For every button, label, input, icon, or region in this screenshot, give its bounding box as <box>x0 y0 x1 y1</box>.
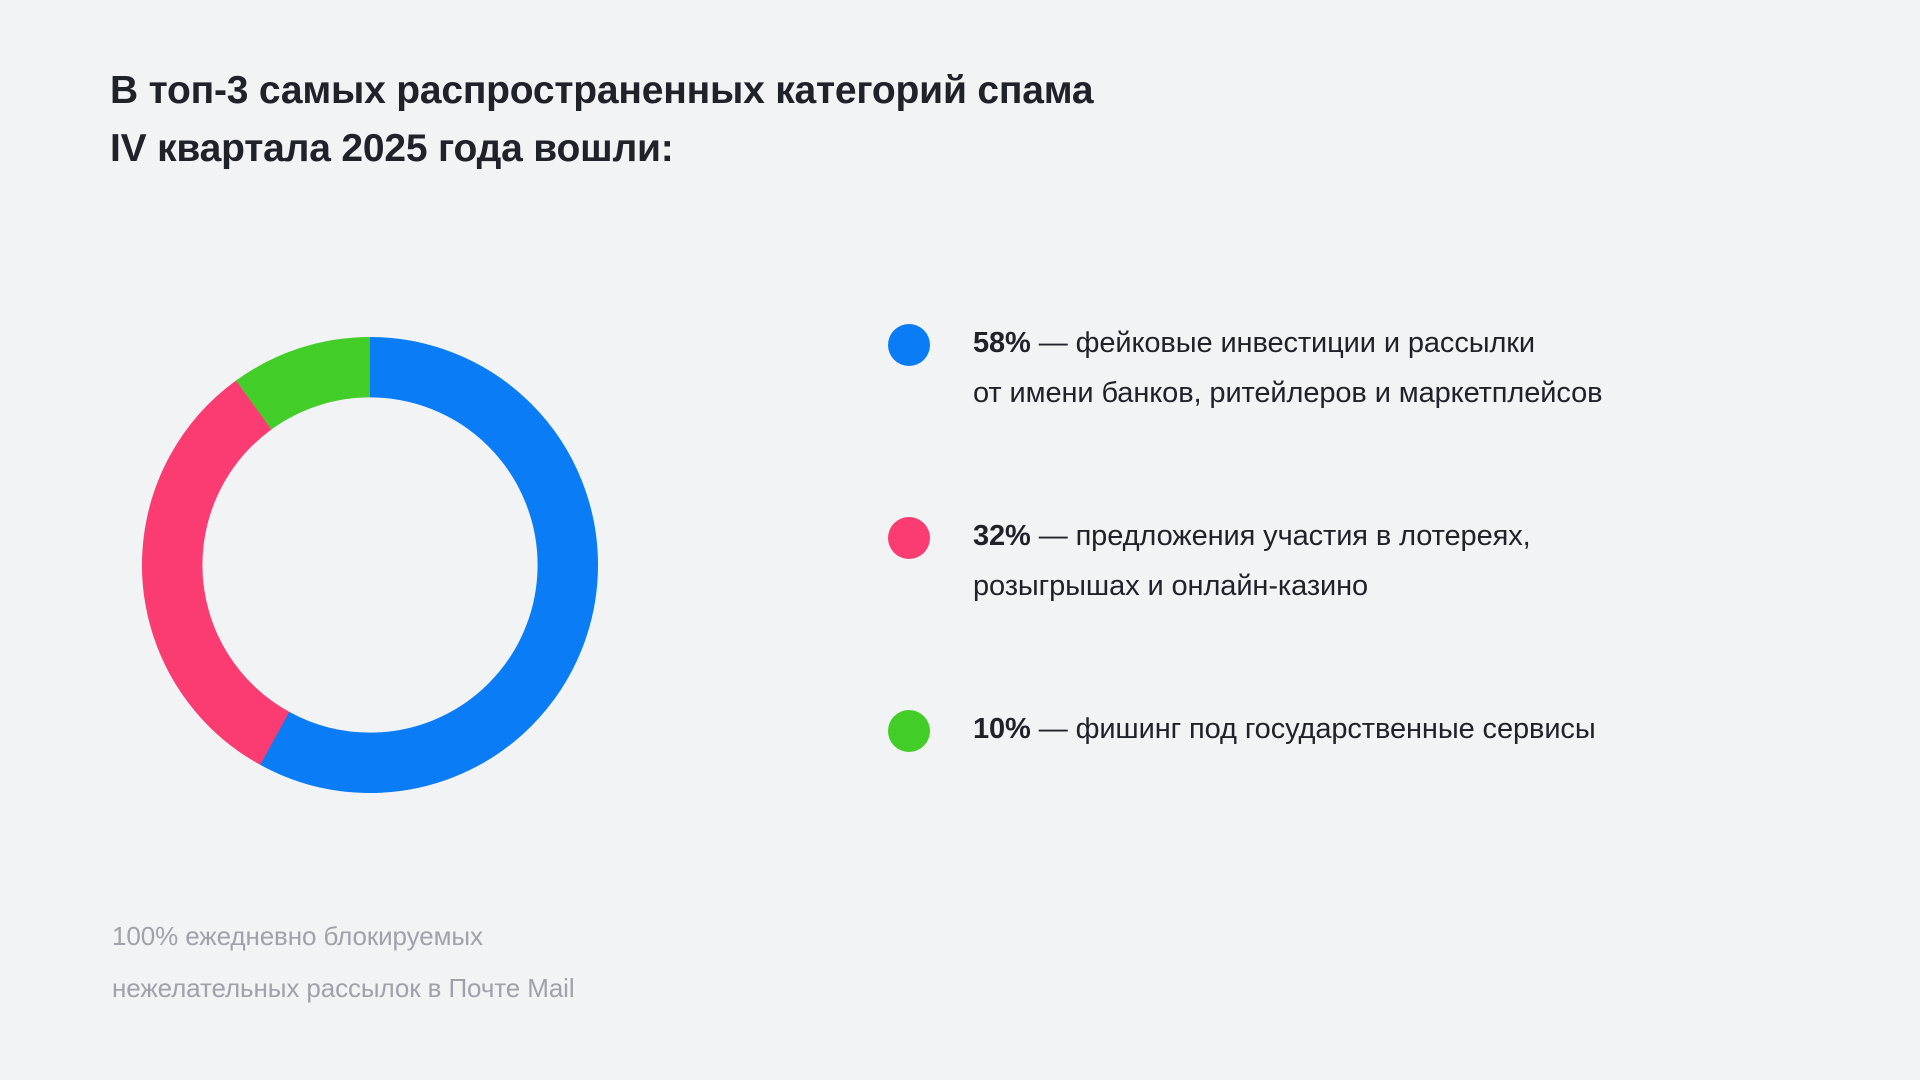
legend-description-line-1: фишинг под государственные сервисы <box>1076 713 1596 745</box>
legend-item-text: 10% — фишинг под государственные сервисы <box>973 704 1596 754</box>
legend-color-dot-icon <box>888 324 930 366</box>
title-line-2: IV квартала 2025 года вошли: <box>110 120 1410 178</box>
donut-chart <box>105 300 635 830</box>
legend-dash: — <box>1031 520 1076 552</box>
infographic-canvas: В топ-3 самых распространенных категорий… <box>0 0 1920 1080</box>
title-line-1: В топ-3 самых распространенных категорий… <box>110 62 1410 120</box>
legend-description-line-1: предложения участия в лотереях, <box>1076 520 1531 552</box>
legend-description-line-2: от имени банков, ритейлеров и маркетплей… <box>973 368 1602 418</box>
legend-description-line-1: фейковые инвестиции и рассылки <box>1076 327 1535 359</box>
legend-color-dot-icon <box>888 710 930 752</box>
legend-percent: 58% <box>973 327 1031 359</box>
legend-description-line-2: розыгрышах и онлайн-казино <box>973 561 1531 611</box>
chart-legend: 58% — фейковые инвестиции и рассылки от … <box>888 318 1828 754</box>
legend-item: 58% — фейковые инвестиции и рассылки от … <box>888 318 1828 418</box>
legend-percent: 10% <box>973 713 1031 745</box>
legend-item: 32% — предложения участия в лотереях, ро… <box>888 511 1828 611</box>
footer-caption-line-1: 100% ежедневно блокируемых <box>112 910 872 962</box>
legend-dash: — <box>1031 713 1076 745</box>
footer-caption: 100% ежедневно блокируемых нежелательных… <box>112 910 872 1014</box>
legend-item: 10% — фишинг под государственные сервисы <box>888 704 1828 754</box>
legend-color-dot-icon <box>888 517 930 559</box>
footer-caption-line-2: нежелательных рассылок в Почте Mail <box>112 962 872 1014</box>
legend-dash: — <box>1031 327 1076 359</box>
donut-chart-svg <box>105 300 635 830</box>
legend-item-text: 58% — фейковые инвестиции и рассылки от … <box>973 318 1602 418</box>
legend-percent: 32% <box>973 520 1031 552</box>
page-title: В топ-3 самых распространенных категорий… <box>110 62 1410 178</box>
legend-item-text: 32% — предложения участия в лотереях, ро… <box>973 511 1531 611</box>
